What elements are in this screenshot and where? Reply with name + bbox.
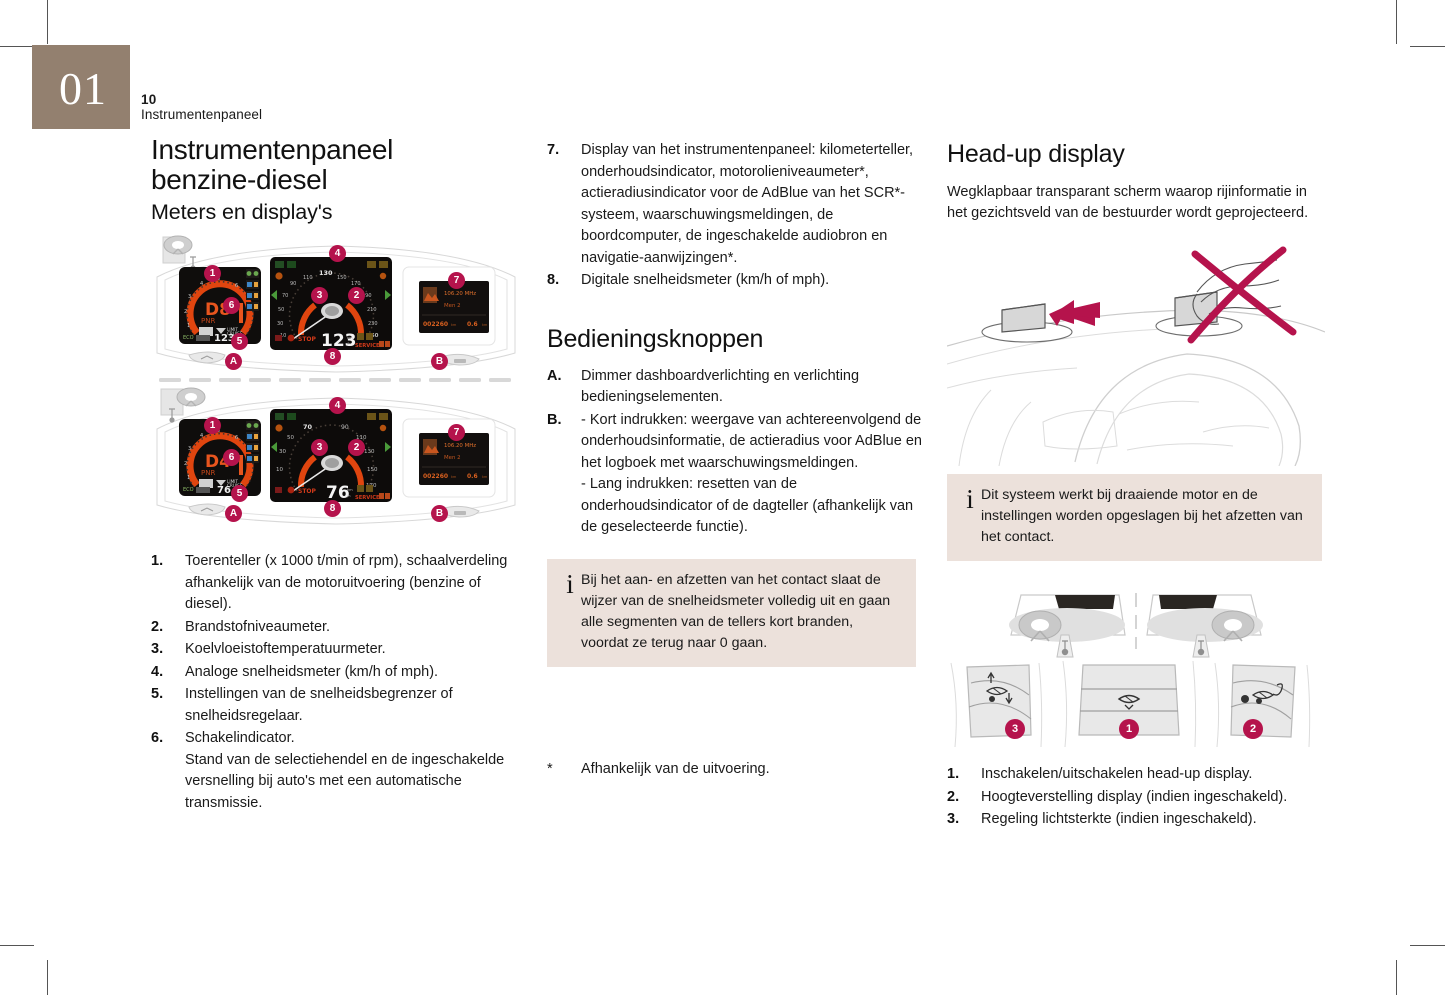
right-column: Head-up display Wegklapbaar transparant … bbox=[947, 135, 1325, 832]
list-item-marker: 5. bbox=[151, 684, 185, 727]
figure-head-up-display-deploy bbox=[947, 236, 1325, 466]
chapter-tab: 01 bbox=[32, 45, 130, 129]
svg-text:76: 76 bbox=[217, 485, 231, 496]
list-item: 3. Koelvloeistoftemperatuurmeter. bbox=[151, 639, 521, 661]
page-number: 10 bbox=[141, 92, 262, 107]
svg-text:/h: /h bbox=[347, 342, 351, 346]
callout-3: 3 bbox=[1005, 719, 1025, 739]
info-box-text: Dit systeem werkt bij draaiende motor en… bbox=[981, 485, 1308, 548]
svg-text:4: 4 bbox=[200, 433, 203, 439]
svg-text:PNR: PNR bbox=[201, 317, 215, 325]
page-title-line1: Instrumentenpaneel bbox=[151, 134, 393, 165]
svg-text:2: 2 bbox=[184, 309, 187, 315]
hud-controls-list: 1. Inschakelen/uitschakelen head-up disp… bbox=[947, 764, 1325, 831]
svg-text:50: 50 bbox=[287, 435, 294, 441]
left-column: Instrumentenpaneel benzine-diesel Meters… bbox=[151, 135, 521, 815]
callout-b: B bbox=[431, 353, 448, 370]
svg-text:210: 210 bbox=[367, 307, 377, 313]
list-item-text: Schakelindicator. Stand van de selectieh… bbox=[185, 728, 521, 814]
list-item: B. - Kort indrukken: weergave van achter… bbox=[547, 410, 922, 539]
list-item: 7. Display van het instrumentenpaneel: k… bbox=[547, 140, 922, 269]
instrument-list-continued: 7. Display van het instrumentenpaneel: k… bbox=[547, 140, 922, 292]
svg-text:km: km bbox=[347, 336, 353, 340]
info-box-text: Bij het aan- en afzetten van het contact… bbox=[581, 570, 902, 654]
hud-deploy-svg bbox=[947, 236, 1325, 466]
list-item-text: Brandstofniveaumeter. bbox=[185, 617, 521, 639]
svg-text:123: 123 bbox=[321, 331, 357, 351]
svg-text:0.6: 0.6 bbox=[467, 321, 478, 328]
callout-3: 3 bbox=[311, 439, 328, 456]
svg-text:70: 70 bbox=[282, 293, 288, 299]
list-item-text: Analoge snelheidsmeter (km/h of mph). bbox=[185, 662, 521, 684]
list-item-text: Dimmer dashboardverlichting en verlichti… bbox=[581, 366, 922, 409]
list-item-text: Instellingen van de snelheidsbegrenzer o… bbox=[185, 684, 521, 727]
svg-text:150: 150 bbox=[367, 467, 378, 473]
list-item-text: Toerenteller (x 1000 t/min of rpm), scha… bbox=[185, 551, 521, 616]
svg-text:4: 4 bbox=[200, 281, 203, 287]
callout-3: 3 bbox=[311, 287, 328, 304]
svg-text:Men 2: Men 2 bbox=[444, 303, 461, 309]
callout-6: 6 bbox=[223, 297, 240, 314]
list-item: 2. Brandstofniveaumeter. bbox=[151, 617, 521, 639]
svg-text:002260: 002260 bbox=[423, 473, 448, 480]
svg-text:10: 10 bbox=[276, 467, 283, 473]
section-heading-bedieningsknoppen: Bedieningsknoppen bbox=[547, 325, 922, 353]
svg-text:km: km bbox=[482, 323, 488, 327]
list-item-marker: 7. bbox=[547, 140, 581, 269]
callout-2: 2 bbox=[348, 439, 365, 456]
svg-text:150: 150 bbox=[337, 275, 347, 281]
crop-mark-bottom-left-horizontal bbox=[0, 945, 34, 946]
list-item-marker: 6. bbox=[151, 728, 185, 814]
info-icon: i bbox=[559, 570, 581, 654]
svg-text:ECO: ECO bbox=[183, 487, 194, 493]
crop-mark-bottom-right-horizontal bbox=[1410, 945, 1445, 946]
svg-text:130: 130 bbox=[319, 269, 333, 277]
footnote: * Afhankelijk van de uitvoering. bbox=[547, 759, 922, 780]
list-item: 3. Regeling lichtsterkte (indien ingesch… bbox=[947, 809, 1325, 831]
list-item: 2. Hoogteverstelling display (indien ing… bbox=[947, 787, 1325, 809]
list-item: 1. Inschakelen/uitschakelen head-up disp… bbox=[947, 764, 1325, 786]
callout-6: 6 bbox=[223, 449, 240, 466]
svg-text:6: 6 bbox=[235, 435, 238, 441]
list-item-marker: B. bbox=[547, 410, 581, 539]
svg-text:PNR: PNR bbox=[201, 469, 215, 477]
list-item: 1. Toerenteller (x 1000 t/min of rpm), s… bbox=[151, 551, 521, 616]
figure-instrument-cluster-petrol: 1 2 3 4 5 6 7 D8 PNR LIMIT CRUISE ECO 12… bbox=[151, 235, 521, 383]
callout-8: 8 bbox=[324, 500, 341, 517]
info-icon: i bbox=[959, 485, 981, 548]
svg-text:50: 50 bbox=[278, 307, 284, 313]
page-title: Instrumentenpaneel benzine-diesel bbox=[151, 135, 521, 195]
callout-b: B bbox=[431, 505, 448, 522]
figure-instrument-cluster-diesel: 1 2 3 4 5 6 7 D4 PNR LIMIT CRUISE ECO 76… bbox=[151, 387, 521, 535]
svg-text:km: km bbox=[482, 475, 488, 479]
svg-text:6: 6 bbox=[235, 283, 238, 289]
callout-7: 7 bbox=[448, 424, 465, 441]
crop-mark-top-right-horizontal bbox=[1410, 46, 1445, 47]
head-up-display-intro: Wegklapbaar transparant scherm waarop ri… bbox=[947, 182, 1325, 224]
list-item-text: Digitale snelheidsmeter (km/h of mph). bbox=[581, 270, 922, 292]
page-subtitle: Meters en display's bbox=[151, 199, 521, 225]
callout-a: A bbox=[225, 353, 242, 370]
svg-text:90: 90 bbox=[290, 281, 296, 287]
list-item-marker: 2. bbox=[151, 617, 185, 639]
list-item: 4. Analoge snelheidsmeter (km/h of mph). bbox=[151, 662, 521, 684]
svg-text:1: 1 bbox=[187, 475, 190, 481]
info-box-ignition: i Bij het aan- en afzetten van het conta… bbox=[547, 559, 916, 667]
svg-text:km: km bbox=[347, 488, 353, 492]
svg-text:km: km bbox=[451, 323, 457, 327]
instrument-list: 1. Toerenteller (x 1000 t/min of rpm), s… bbox=[151, 551, 521, 814]
footnote-text: Afhankelijk van de uitvoering. bbox=[581, 759, 770, 780]
crop-mark-bottom-left-vertical bbox=[47, 960, 48, 995]
figure-head-up-display-controls: 3 1 2 bbox=[947, 583, 1325, 751]
svg-text:70: 70 bbox=[303, 423, 313, 431]
chapter-number: 01 bbox=[59, 66, 107, 112]
svg-text:3: 3 bbox=[188, 446, 191, 452]
list-item-text: Koelvloeistoftemperatuurmeter. bbox=[185, 639, 521, 661]
svg-text:Men 2: Men 2 bbox=[444, 455, 461, 461]
list-item-text: Inschakelen/uitschakelen head-up display… bbox=[981, 764, 1325, 786]
svg-text:0.6: 0.6 bbox=[467, 473, 478, 480]
svg-text:STOP: STOP bbox=[298, 488, 317, 495]
svg-text:2: 2 bbox=[184, 461, 187, 467]
list-item-marker: 1. bbox=[151, 551, 185, 616]
controls-list: A. Dimmer dashboardverlichting en verlic… bbox=[547, 366, 922, 539]
svg-text:30: 30 bbox=[279, 449, 286, 455]
crop-mark-top-right-vertical bbox=[1396, 0, 1397, 44]
svg-text:1: 1 bbox=[187, 323, 190, 329]
svg-text:SERVICE: SERVICE bbox=[355, 495, 380, 501]
list-item-marker: 3. bbox=[151, 639, 185, 661]
crop-mark-bottom-right-vertical bbox=[1396, 960, 1397, 995]
callout-1: 1 bbox=[204, 417, 221, 434]
list-item-marker: 8. bbox=[547, 270, 581, 292]
svg-text:SERVICE: SERVICE bbox=[355, 343, 380, 349]
svg-text:km: km bbox=[451, 475, 457, 479]
list-item: 5. Instellingen van de snelheidsbegrenze… bbox=[151, 684, 521, 727]
crop-mark-top-left-horizontal bbox=[0, 46, 33, 47]
svg-text:STOP: STOP bbox=[298, 336, 317, 343]
list-item-text: - Kort indrukken: weergave van achtereen… bbox=[581, 410, 922, 539]
footnote-marker: * bbox=[547, 759, 581, 780]
callout-7: 7 bbox=[448, 272, 465, 289]
callout-5: 5 bbox=[231, 485, 248, 502]
svg-text:130: 130 bbox=[364, 449, 375, 455]
list-item-text: Regeling lichtsterkte (indien ingeschake… bbox=[981, 809, 1325, 831]
callout-a: A bbox=[225, 505, 242, 522]
svg-text:106.20 MHz: 106.20 MHz bbox=[444, 443, 476, 449]
svg-text:002260: 002260 bbox=[423, 321, 448, 328]
svg-text:90: 90 bbox=[341, 424, 349, 431]
middle-column: 7. Display van het instrumentenpaneel: k… bbox=[547, 135, 922, 780]
crop-mark-top-left-vertical bbox=[47, 0, 48, 44]
list-item-text: Display van het instrumentenpaneel: kilo… bbox=[581, 140, 922, 269]
list-item: A. Dimmer dashboardverlichting en verlic… bbox=[547, 366, 922, 409]
running-head: 10 Instrumentenpaneel bbox=[141, 92, 262, 123]
svg-text:3: 3 bbox=[188, 294, 191, 300]
callout-1: 1 bbox=[1119, 719, 1139, 739]
list-item-text: Hoogteverstelling display (indien ingesc… bbox=[981, 787, 1325, 809]
section-name: Instrumentenpaneel bbox=[141, 107, 262, 123]
list-item-marker: 3. bbox=[947, 809, 981, 831]
callout-8: 8 bbox=[324, 348, 341, 365]
info-box-head-up-display: i Dit systeem werkt bij draaiende motor … bbox=[947, 474, 1322, 561]
callout-4: 4 bbox=[329, 245, 346, 262]
svg-text:ECO: ECO bbox=[183, 335, 194, 341]
section-heading-head-up-display: Head-up display bbox=[947, 140, 1325, 168]
svg-text:/h: /h bbox=[347, 494, 351, 498]
page-title-line2: benzine-diesel bbox=[151, 164, 327, 195]
callout-1: 1 bbox=[204, 265, 221, 282]
svg-text:110: 110 bbox=[303, 275, 313, 281]
svg-text:30: 30 bbox=[277, 321, 283, 327]
callout-2: 2 bbox=[348, 287, 365, 304]
list-item-marker: 4. bbox=[151, 662, 185, 684]
callout-5: 5 bbox=[231, 333, 248, 350]
list-item-marker: 1. bbox=[947, 764, 981, 786]
callout-4: 4 bbox=[329, 397, 346, 414]
svg-text:106.20 MHz: 106.20 MHz bbox=[444, 291, 476, 297]
svg-text:230: 230 bbox=[368, 321, 378, 327]
list-item-marker: 2. bbox=[947, 787, 981, 809]
list-item: 6. Schakelindicator. Stand van de select… bbox=[151, 728, 521, 814]
list-item-marker: A. bbox=[547, 366, 581, 409]
callout-2: 2 bbox=[1243, 719, 1263, 739]
list-item: 8. Digitale snelheidsmeter (km/h of mph)… bbox=[547, 270, 922, 292]
